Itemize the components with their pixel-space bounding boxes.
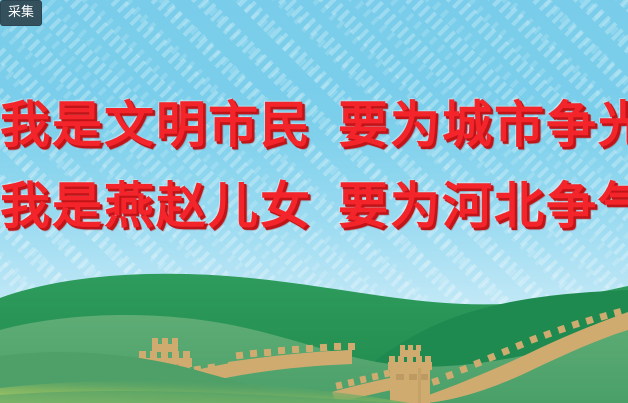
- slogan-line1-right: 要为城市争光: [338, 96, 628, 154]
- slogan-line1-left: 我是文明市民: [0, 96, 312, 154]
- slogan-line-1: 我是文明市民要为城市争光: [0, 100, 628, 150]
- slogan-line-2: 我是燕赵儿女要为河北争气: [0, 181, 628, 231]
- banner-image: 我是文明市民要为城市争光 我是燕赵儿女要为河北争气 采集: [0, 0, 628, 403]
- slogan-line2-right: 要为河北争气: [338, 177, 628, 235]
- capture-button[interactable]: 采集: [0, 0, 42, 26]
- slogan-line2-left: 我是燕赵儿女: [0, 177, 312, 235]
